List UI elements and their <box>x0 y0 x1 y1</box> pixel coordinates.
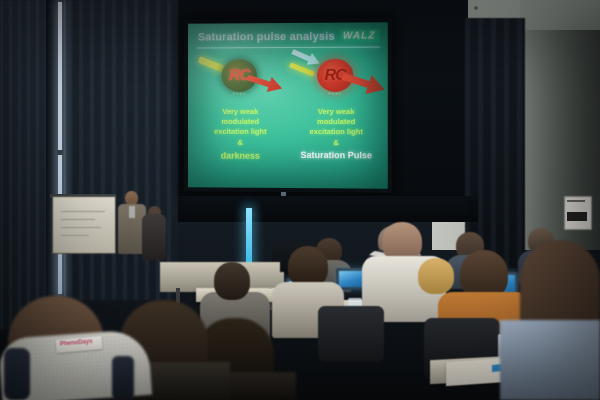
panel-right-emphasis: Saturation Pulse <box>287 150 386 161</box>
panel-right-caption-line-3: excitation light <box>287 127 386 138</box>
slide-panel-left: RC P680 Very weak modulated excitation l… <box>192 53 289 185</box>
walz-logo: WALZ <box>339 29 380 42</box>
projection-screen: Saturation pulse analysis WALZ RC P680 V… <box>188 22 388 188</box>
projection-screen-frame: Saturation pulse analysis WALZ RC P680 V… <box>184 18 392 193</box>
flipchart <box>52 196 116 254</box>
weak-modulated-light-arrow-icon-2 <box>289 62 315 76</box>
foreground-shoulder-right <box>500 320 600 400</box>
assistant-body <box>142 214 166 260</box>
badge-label-primary: Pheno <box>60 340 79 348</box>
curtain-right <box>465 18 525 268</box>
light-strip-joint <box>57 150 63 155</box>
audience-head-blonde <box>418 258 454 294</box>
curtain-left-fold <box>46 0 58 320</box>
badge-label: PhenoDays <box>60 339 93 348</box>
ceiling-spotlight <box>474 6 478 10</box>
panel-left-emphasis: darkness <box>192 151 289 162</box>
badge-label-accent: Days <box>78 339 93 346</box>
rc-sublabel-left: P680 <box>216 91 264 96</box>
wall-sign-text-block <box>567 212 587 221</box>
chair-back <box>318 306 384 362</box>
reaction-center-node-dark: RC <box>221 59 257 92</box>
slide-title: Saturation pulse analysis <box>198 31 335 44</box>
slide-panel-right: RC P680 Very weak modulated excitation l… <box>287 53 386 186</box>
conference-room-photo: Saturation pulse analysis WALZ RC P680 V… <box>0 0 600 400</box>
rc-sublabel-right: P680 <box>311 91 359 96</box>
panel-left-caption-amp: & <box>192 138 289 149</box>
foreground-collar-stripe <box>4 348 30 400</box>
panel-left-caption-line-3: excitation light <box>192 127 289 138</box>
foreground-collar-stripe-2 <box>112 356 134 400</box>
panel-right-caption-amp: & <box>287 138 386 149</box>
audience-head <box>214 262 250 300</box>
wall-sign-line <box>567 200 585 202</box>
slide-title-divider <box>197 47 380 49</box>
rc-label-left: RC <box>221 59 257 92</box>
curtain-left-outer <box>0 0 46 330</box>
stage-base-band <box>178 196 478 222</box>
presenter-lanyard <box>129 206 135 218</box>
